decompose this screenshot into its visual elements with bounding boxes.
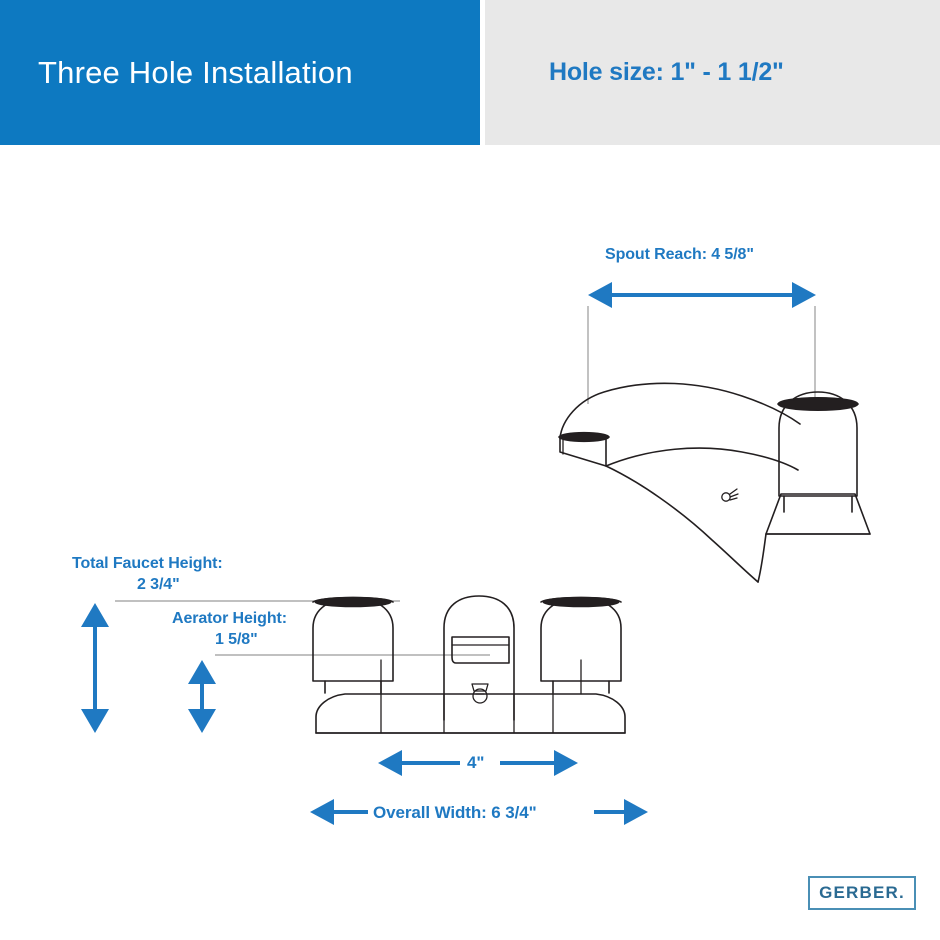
total-faucet-height-value: 2 3/4" <box>137 576 180 594</box>
center-spread-label: 4" <box>467 753 484 773</box>
gerber-logo-text: GERBER. <box>819 883 905 903</box>
total-faucet-height-label: Total Faucet Height: <box>72 555 223 573</box>
gerber-logo: GERBER. <box>808 876 916 910</box>
overall-width-label: Overall Width: 6 3/4" <box>373 803 537 823</box>
aerator-height-label: Aerator Height: <box>172 610 287 628</box>
set-screw-detail <box>722 489 738 501</box>
spec-sheet: Three Hole Installation Hole size: 1" - … <box>0 0 940 940</box>
technical-drawing: .fl { fill: none; stroke: #231f20; strok… <box>0 0 940 940</box>
aerator-height-value: 1 5/8" <box>215 631 258 649</box>
faucet-front-view <box>313 596 625 733</box>
spout-reach-label: Spout Reach: 4 5/8" <box>605 246 754 264</box>
faucet-perspective-view <box>559 383 870 582</box>
